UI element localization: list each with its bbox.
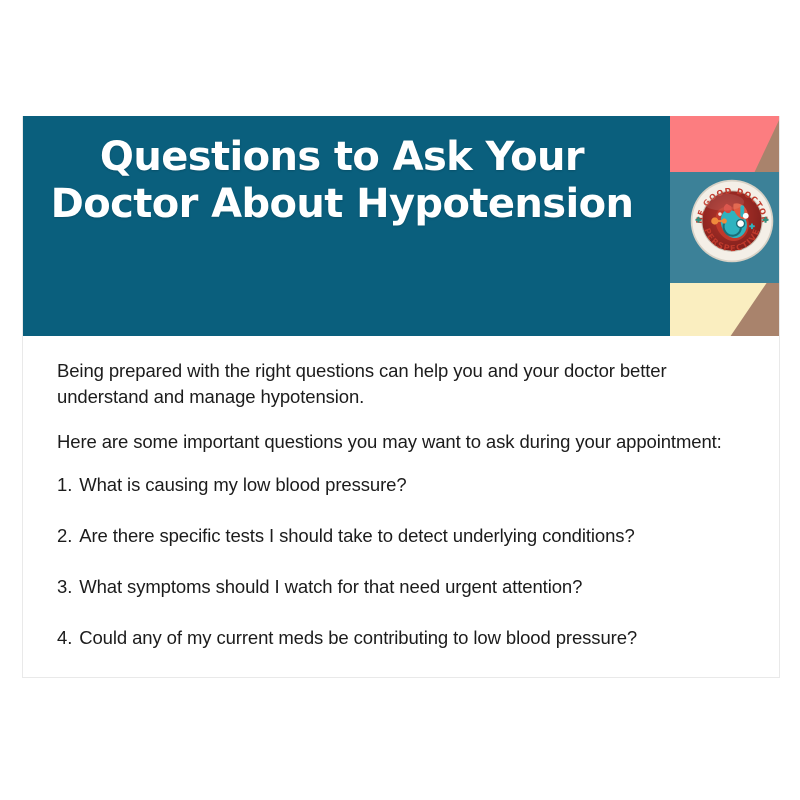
list-item-text: What symptoms should I watch for that ne… — [79, 575, 747, 600]
list-item: 3. What symptoms should I watch for that… — [57, 575, 747, 600]
questions-list: 1. What is causing my low blood pressure… — [57, 473, 747, 651]
list-item-number: 4. — [57, 626, 72, 651]
article-card: Questions to Ask Your Doctor About Hypot… — [22, 116, 780, 678]
page-title: Questions to Ask Your Doctor About Hypot… — [42, 134, 642, 228]
list-item-number: 1. — [57, 473, 72, 498]
intro-paragraph-2: Here are some important questions you ma… — [57, 429, 747, 455]
list-item-number: 2. — [57, 524, 72, 549]
header-banner: Questions to Ask Your Doctor About Hypot… — [23, 116, 780, 336]
article-body: Being prepared with the right questions … — [23, 336, 780, 678]
brand-logo-icon: THE GOOD DOCTORS PERSPECTIVE — [689, 178, 775, 264]
list-item-text: Could any of my current meds be contribu… — [79, 626, 747, 651]
page-root: Questions to Ask Your Doctor About Hypot… — [0, 0, 800, 800]
list-item: 4. Could any of my current meds be contr… — [57, 626, 747, 651]
list-item-number: 3. — [57, 575, 72, 600]
brand-graphic-panel: THE GOOD DOCTORS PERSPECTIVE — [661, 116, 780, 336]
header-title-container: Questions to Ask Your Doctor About Hypot… — [23, 116, 661, 336]
list-item-text: What is causing my low blood pressure? — [79, 473, 747, 498]
list-item: 1. What is causing my low blood pressure… — [57, 473, 747, 498]
intro-paragraph-1: Being prepared with the right questions … — [57, 358, 747, 411]
list-item: 2. Are there specific tests I should tak… — [57, 524, 747, 549]
panel-left-edge — [661, 116, 670, 336]
list-item-text: Are there specific tests I should take t… — [79, 524, 747, 549]
